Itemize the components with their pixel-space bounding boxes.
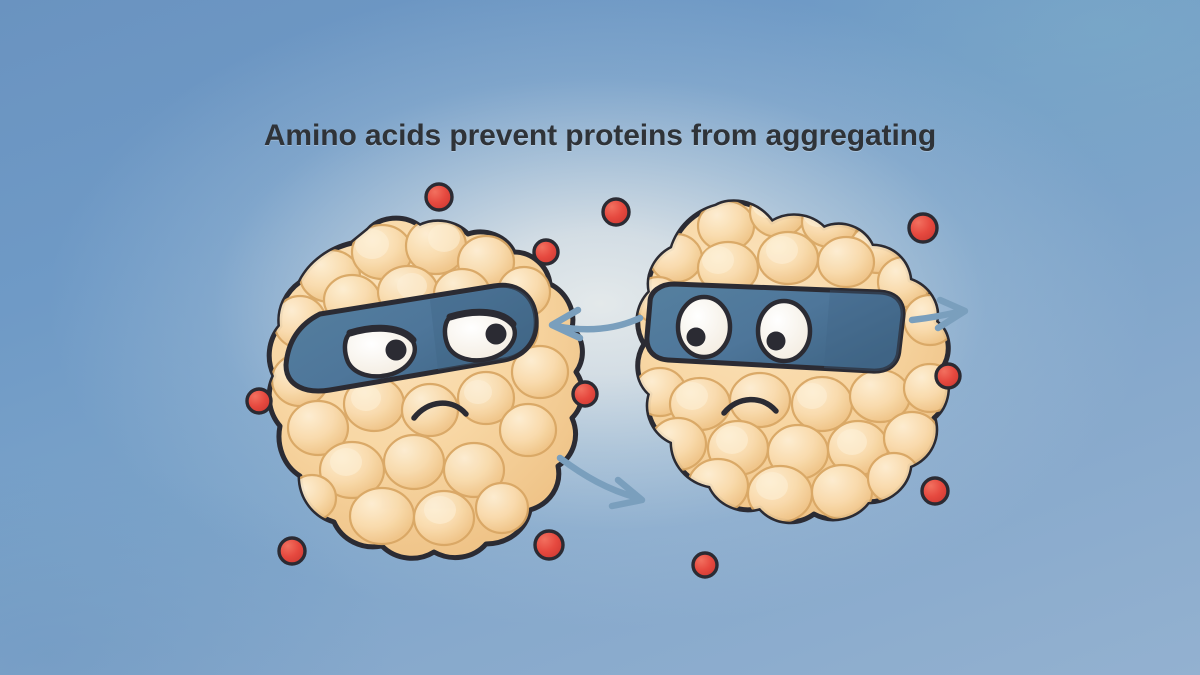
amino-acid-dot [426, 184, 452, 210]
amino-acid-dot [603, 199, 629, 225]
amino-acid-dot [573, 382, 597, 406]
amino-acid-dot [693, 553, 717, 577]
arrow-down-right-icon [560, 458, 642, 506]
amino-acid-dot [279, 538, 305, 564]
amino-acid-dot [535, 531, 563, 559]
protein-left[interactable] [269, 218, 582, 558]
amino-acid-dot [936, 364, 960, 388]
amino-acid-dot [247, 389, 271, 413]
scene-illustration [0, 0, 1200, 675]
amino-acid-dot [534, 240, 558, 264]
illustration-canvas: Amino acids prevent proteins from aggreg… [0, 0, 1200, 675]
amino-acid-dot [922, 478, 948, 504]
page-title: Amino acids prevent proteins from aggreg… [0, 119, 1200, 153]
amino-acid-dot [909, 214, 937, 242]
protein-right[interactable] [634, 187, 956, 522]
